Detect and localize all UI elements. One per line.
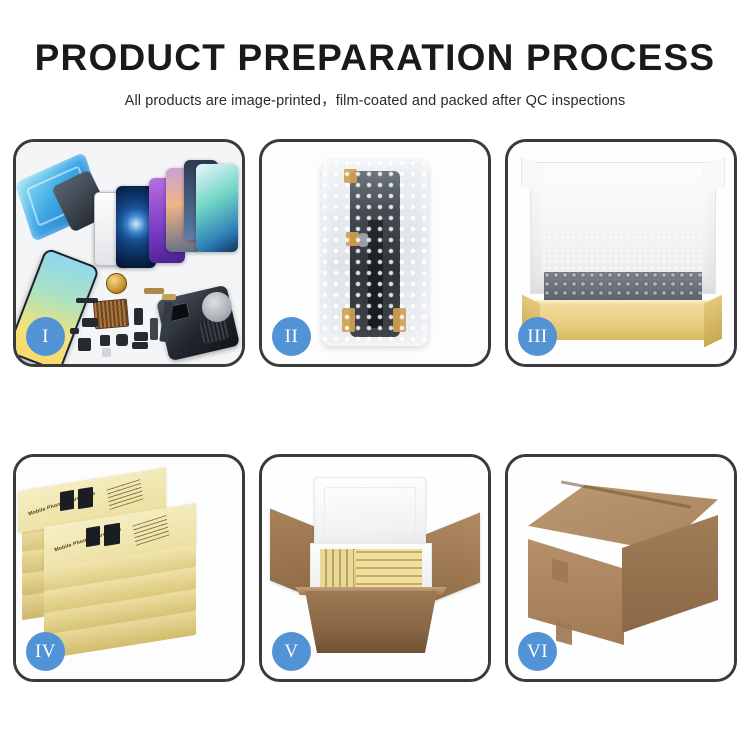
step-badge-3: III [518, 317, 557, 356]
box-screen-image [104, 523, 120, 547]
step-badge-4: IV [26, 632, 65, 671]
carton-left-panel-graphic [528, 539, 624, 645]
bubble-wrap-bag-graphic [322, 160, 428, 346]
step-badge-1: I [26, 317, 65, 356]
small-part-graphic [78, 338, 91, 351]
foam-box-lid-graphic [314, 477, 426, 551]
small-part-graphic [162, 294, 176, 300]
product-preparation-process-infographic: PRODUCT PREPARATION PROCESS All products… [0, 0, 750, 750]
tape-graphic [393, 308, 406, 332]
small-part-graphic [102, 348, 111, 357]
process-step-card-1: I [13, 139, 245, 367]
process-step-card-2: II [259, 139, 491, 367]
box-screen-image [86, 526, 100, 547]
small-part-graphic [132, 342, 148, 349]
phone-screen-graphic [196, 164, 238, 252]
process-step-card-6: VI [505, 454, 737, 682]
box-screen-image [60, 490, 74, 511]
small-part-graphic [134, 308, 143, 325]
tape-graphic [346, 232, 359, 246]
chip-component-graphic [93, 299, 129, 330]
page-title: PRODUCT PREPARATION PROCESS [0, 38, 750, 78]
carton-tape-graphic [552, 559, 568, 584]
small-part-graphic [134, 332, 148, 341]
carton-tape-graphic [556, 621, 572, 646]
small-part-graphic [150, 318, 158, 340]
tool-graphic [202, 292, 232, 322]
header: PRODUCT PREPARATION PROCESS All products… [0, 38, 750, 110]
part-flex-graphic [368, 220, 383, 328]
tape-graphic [342, 308, 355, 332]
process-step-card-3: III [505, 139, 737, 367]
carton-front-panel-graphic [296, 591, 446, 653]
process-step-card-4: Mobile Phone Spare Parts Mobile Phone Sp… [13, 454, 245, 682]
box-screen-image [78, 487, 93, 509]
box-front-panel-graphic [536, 305, 708, 340]
packed-retail-boxes-graphic [320, 549, 422, 591]
process-step-card-5: V [259, 454, 491, 682]
page-subtitle: All products are image-printed，film-coat… [0, 89, 750, 110]
step-badge-2: II [272, 317, 311, 356]
speaker-component-graphic [106, 273, 127, 294]
process-step-grid: I II [13, 139, 737, 682]
step-badge-6: VI [518, 632, 557, 671]
foam-sheet-graphic [542, 194, 704, 272]
small-part-graphic [100, 335, 110, 346]
small-part-graphic [116, 334, 128, 346]
small-part-graphic [144, 288, 164, 294]
tape-graphic [344, 169, 357, 183]
step-badge-5: V [272, 632, 311, 671]
small-part-graphic [70, 328, 79, 334]
small-part-graphic [82, 318, 98, 327]
small-part-graphic [76, 298, 98, 303]
